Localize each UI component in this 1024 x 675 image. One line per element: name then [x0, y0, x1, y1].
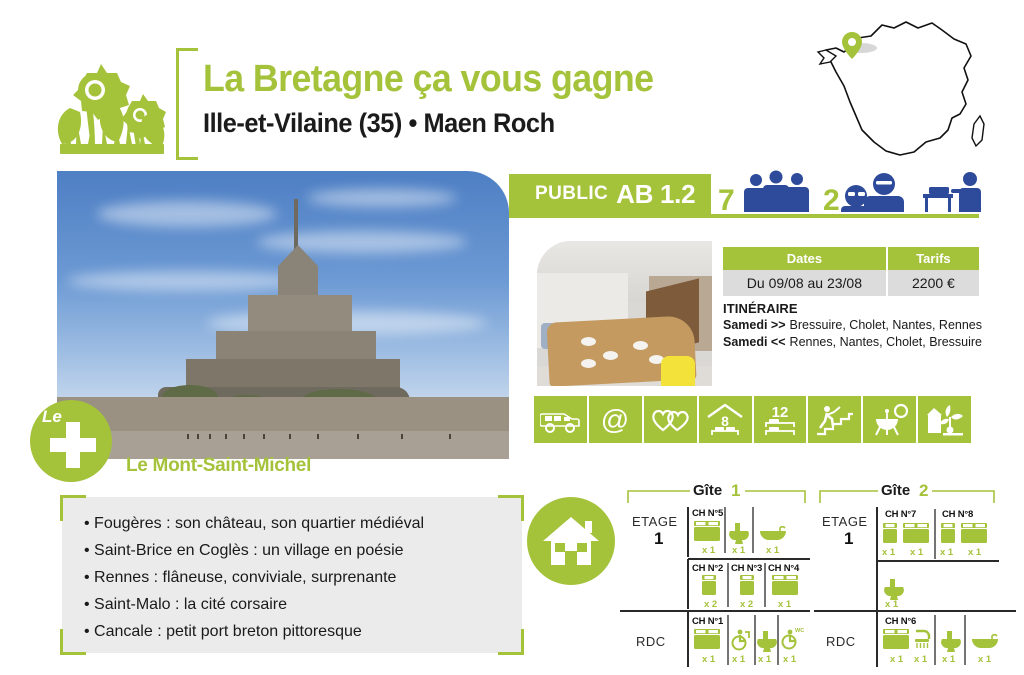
gite-1-qty-wc: x 1 — [732, 545, 746, 556]
gite-1-qty-accwc: x 1 — [783, 654, 797, 665]
le-plus-label: Le — [42, 407, 62, 427]
table-header-row: Dates Tarifs — [723, 247, 979, 270]
gite-2-qty-tub: x 1 — [978, 654, 992, 665]
internet-at-icon: @ — [589, 396, 644, 443]
plus-icon-bar — [50, 438, 96, 452]
house-beds-icon: 8 — [699, 396, 754, 443]
minibus-icon — [534, 396, 589, 443]
family-group-icon — [744, 171, 809, 213]
gite-1-item-accessible-wc — [783, 628, 805, 649]
gite-1-item-double-bed — [694, 521, 720, 541]
gite-1-item-double-bed-4 — [772, 575, 798, 595]
gite-1-room-label-5: CH N°5 — [692, 508, 724, 519]
gite-1-item-toilet — [729, 523, 749, 544]
column-header-tarifs: Tarifs — [887, 247, 979, 270]
gite-1-qty-accshower: x 1 — [732, 654, 746, 665]
page-title: La Bretagne ça vous gagne — [203, 58, 653, 101]
itineraire-row-outbound: Samedi >> Bressuire, Cholet, Nantes, Ren… — [723, 317, 985, 334]
itineraire-row-return: Samedi << Rennes, Nantes, Cholet, Bressu… — [723, 334, 985, 351]
le-plus-badge: Le — [30, 400, 112, 482]
gite-1-room-label-3: CH N°3 — [731, 563, 762, 574]
gite-2-floor-2-name: RDC — [826, 634, 856, 649]
capacity-count-children: 7 — [718, 184, 735, 217]
list-item: Saint-Malo : la cité corsaire — [84, 592, 522, 619]
gite-2-floor-0-level: 1 — [844, 529, 853, 548]
gite-1-floor-2-name: RDC — [636, 634, 666, 649]
gite-2-floor-0-name: ETAGE — [822, 514, 868, 529]
column-header-dates: Dates — [723, 247, 887, 270]
hiking-stairs-icon — [808, 396, 863, 443]
gite-1-qty-bed5: x 1 — [702, 545, 716, 556]
table-row: Du 09/08 au 23/08 2200 € — [723, 270, 979, 296]
itineraire-stops-return: Rennes, Nantes, Cholet, Bressuire — [790, 334, 982, 351]
france-map-icon — [814, 6, 1004, 171]
itineraire-block: ITINÉRAIRE Samedi >> Bressuire, Cholet, … — [723, 300, 985, 350]
title-bracket-decoration — [176, 48, 198, 160]
dates-tarifs-table: Dates Tarifs Du 09/08 au 23/08 2200 € — [723, 247, 979, 296]
list-item: Rennes : flâneuse, conviviale, surprenan… — [84, 565, 522, 592]
gite-2-item-single-bed-7 — [883, 523, 897, 543]
gite-2-item-bathtub — [972, 635, 998, 648]
highlights-list: Fougères : son château, son quartier méd… — [62, 497, 522, 645]
beds-capacity-icon: 12 — [754, 396, 809, 443]
gite-2-item-double-bed-6 — [883, 629, 909, 649]
gite-2-qty-wc-mid: x 1 — [885, 599, 899, 610]
capacity-count-adults: 2 — [823, 184, 840, 217]
gite-2-qty-bed6: x 1 — [890, 654, 904, 665]
svg-text:@: @ — [601, 405, 629, 435]
gite-1-qty-wc-rdc: x 1 — [758, 654, 772, 665]
amenity-beds-count: 8 — [721, 413, 729, 429]
gite-1-item-single-bed-3 — [740, 575, 754, 595]
box-corner-bottom-right — [498, 629, 524, 655]
gite-2-number: 2 — [919, 481, 928, 500]
gite-1-qty-bed3: x 2 — [740, 599, 753, 610]
list-item: Saint-Brice en Coglès : un village en po… — [84, 538, 522, 565]
staff-desk-icon — [923, 172, 981, 212]
itineraire-day-outbound: Samedi >> — [723, 317, 786, 334]
box-corner-top-left — [60, 495, 86, 521]
amenity-capacity-count: 12 — [772, 404, 789, 421]
page-subtitle: Ille-et-Vilaine (35) • Maen Roch — [203, 108, 555, 139]
list-item: Fougères : son château, son quartier méd… — [84, 511, 522, 538]
garden-shed-icon — [918, 396, 971, 443]
gite-2-room-label-6: CH N°6 — [885, 616, 916, 627]
cell-tarif: 2200 € — [887, 270, 979, 296]
photo-caption: Le Mont-Saint-Michel — [126, 455, 311, 477]
two-adults-icon — [841, 173, 904, 212]
gite-2-qty-single7: x 1 — [882, 547, 896, 558]
gite-1-item-toilet-rdc — [757, 631, 777, 652]
gite-1-item-bathtub — [760, 527, 786, 540]
gite-1-floor-0-level: 1 — [654, 529, 663, 548]
highlights-box: Fougères : son château, son quartier méd… — [62, 497, 522, 653]
gite-1-floor-0-name: ETAGE — [632, 514, 678, 529]
gite-1-label: Gîte — [693, 482, 722, 499]
dining-room-interior-photo — [537, 241, 712, 386]
house-icon — [527, 497, 615, 585]
gite-2-item-toilet-mid — [884, 579, 904, 600]
gites-diagram: WC Gîte 1 — [620, 481, 1016, 669]
gite-1-qty-bed4: x 1 — [778, 599, 792, 610]
gite-1-number: 1 — [731, 481, 740, 500]
gite-2-room-label-8: CH N°8 — [942, 509, 973, 520]
gite-2-room-label-7: CH N°7 — [885, 509, 916, 520]
gite-1-qty-tub: x 1 — [766, 545, 780, 556]
gite-2-label: Gîte — [881, 482, 910, 499]
sunflowers-grass-icon — [52, 48, 172, 160]
itineraire-stops-outbound: Bressuire, Cholet, Nantes, Rennes — [790, 317, 982, 334]
public-label: PUBLIC — [535, 183, 608, 205]
gite-1-qty-bed1: x 1 — [702, 654, 716, 665]
box-corner-top-right — [498, 495, 524, 521]
gite-1-item-double-bed-1 — [694, 629, 720, 649]
gite-2-item-toilet-rdc — [941, 631, 961, 652]
two-hearts-icon — [644, 396, 699, 443]
gite-2-item-double-bed-7 — [903, 523, 929, 543]
gite-1-room-label-4: CH N°4 — [768, 563, 800, 574]
gite-1-item-single-bed-2 — [702, 575, 716, 595]
cell-dates: Du 09/08 au 23/08 — [723, 270, 887, 296]
gite-2-qty-shower: x 1 — [914, 654, 928, 665]
amenities-strip: @ 8 12 — [534, 396, 971, 443]
public-code: AB 1.2 — [616, 179, 695, 210]
list-item: Cancale : petit port breton pittoresque — [84, 619, 522, 646]
gite-2-qty-wc-rdc: x 1 — [942, 654, 956, 665]
gite-1-room-label-2: CH N°2 — [692, 563, 723, 574]
itineraire-day-return: Samedi << — [723, 334, 786, 351]
gite-1-item-accessible-shower — [733, 630, 750, 650]
gite-2-qty-double7: x 1 — [910, 547, 924, 558]
gite-1-qty-bed2: x 2 — [704, 599, 717, 610]
public-badge: PUBLIC AB 1.2 — [509, 174, 711, 214]
mont-saint-michel-photo — [57, 171, 509, 459]
itineraire-title: ITINÉRAIRE — [723, 300, 985, 317]
gite-2-qty-single8: x 1 — [940, 547, 954, 558]
gite-2-item-single-bed-8 — [941, 523, 955, 543]
box-corner-bottom-left — [60, 629, 86, 655]
barbecue-sun-icon — [863, 396, 918, 443]
poster-page: La Bretagne ça vous gagne Ille-et-Vilain… — [0, 0, 1024, 675]
gite-1-room-label-1: CH N°1 — [692, 616, 724, 627]
capacity-icons-group: 7 2 — [718, 170, 983, 218]
gite-2-item-shower — [915, 631, 929, 648]
gite-2-item-double-bed-8 — [961, 523, 987, 543]
gite-2-qty-double8: x 1 — [968, 547, 982, 558]
